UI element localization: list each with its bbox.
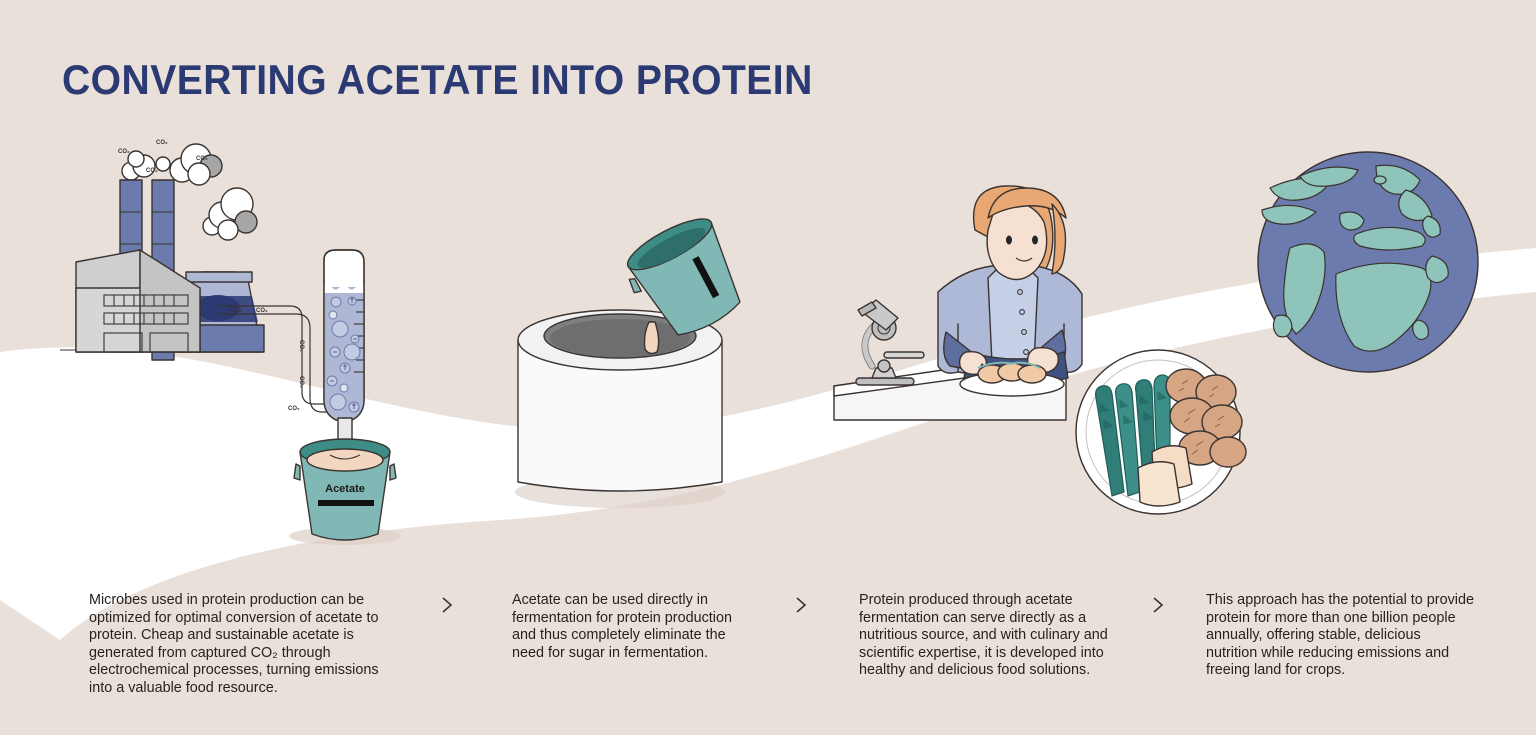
step-caption-1: Microbes used in protein production can …	[89, 592, 389, 698]
step-caption-2: Acetate can be used directly in fermenta…	[512, 592, 752, 662]
step-caption-text: Acetate can be used directly in fermenta…	[512, 592, 752, 662]
step-caption-text: Microbes used in protein production can …	[89, 592, 389, 698]
chevron-right-icon	[1148, 594, 1168, 616]
chevron-right-icon	[791, 594, 811, 616]
infographic-canvas: CONVERTING ACETATE INTO PROTEIN .ol{stro…	[0, 0, 1536, 735]
step-caption-text: Protein produced through acetate ferment…	[859, 592, 1121, 680]
page-title: CONVERTING ACETATE INTO PROTEIN	[62, 56, 813, 104]
caption-row: Microbes used in protein production can …	[0, 592, 1536, 735]
step-caption-4: This approach has the potential to provi…	[1206, 592, 1474, 680]
chevron-right-icon	[437, 594, 457, 616]
step-caption-3: Protein produced through acetate ferment…	[859, 592, 1121, 680]
step-caption-text: This approach has the potential to provi…	[1206, 592, 1474, 680]
